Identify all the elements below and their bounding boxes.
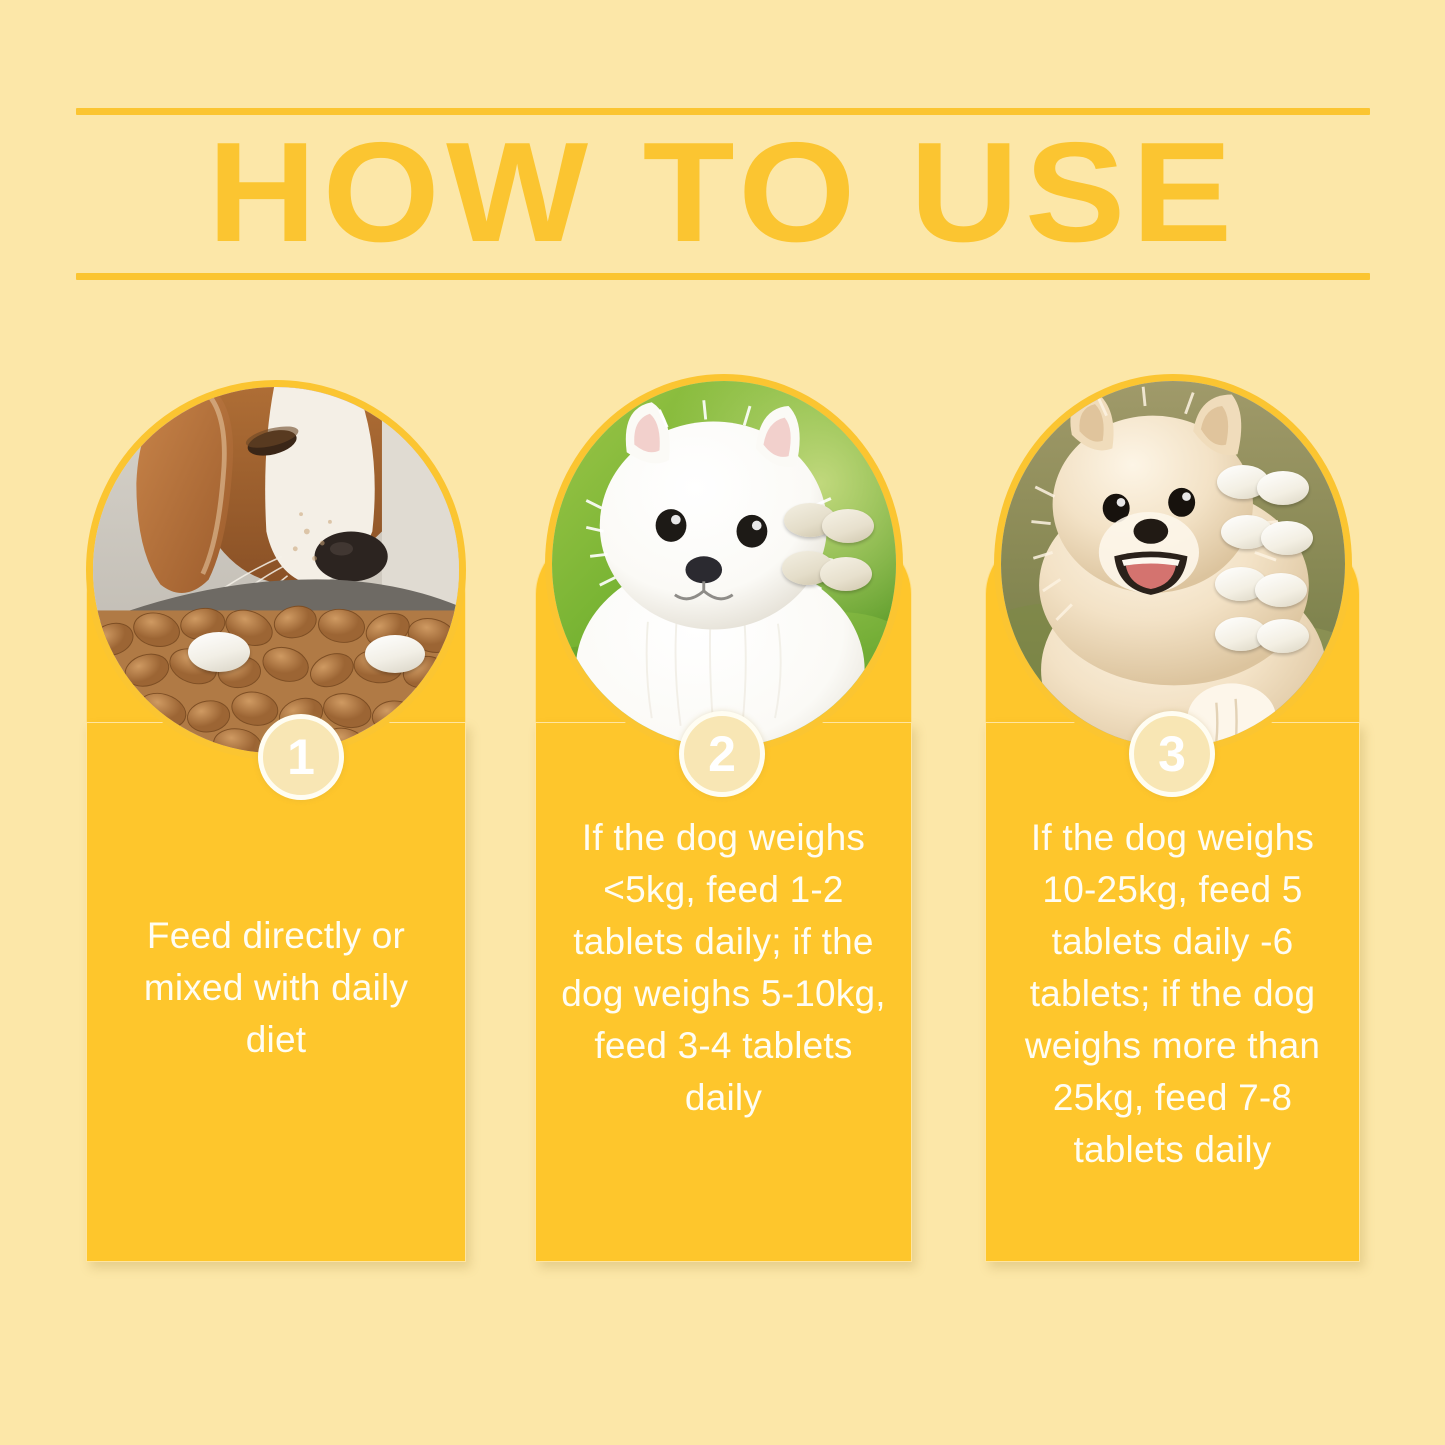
step-card-2[interactable]: 2 If the dog weighs <5kg, feed 1-2 table… (535, 492, 912, 1262)
tablet-4 (820, 557, 872, 591)
tablet-1 (188, 632, 250, 672)
step-text-2: If the dog weighs <5kg, feed 1-2 tablets… (558, 812, 890, 1124)
tablet-2 (822, 509, 874, 543)
step-text-1: Feed directly or mixed with daily diet (109, 910, 443, 1066)
step-photo-1 (86, 380, 466, 760)
tablet-4 (1261, 521, 1313, 555)
tablet-2 (1257, 471, 1309, 505)
tablet-6 (1255, 573, 1307, 607)
step-photo-2 (545, 374, 903, 754)
step-photo-3 (994, 374, 1352, 754)
cream-pomeranian-illustration (1001, 381, 1345, 747)
step-badge-1: 1 (258, 714, 344, 800)
tablet-8 (1257, 619, 1309, 653)
step-number-2: 2 (708, 729, 736, 779)
step-number-1: 1 (287, 732, 315, 782)
step-badge-3: 3 (1129, 711, 1215, 797)
step-badge-2: 2 (679, 711, 765, 797)
beagle-eating-kibble-illustration (93, 387, 459, 753)
step-card-1[interactable]: 1 Feed directly or mixed with daily diet (86, 492, 466, 1262)
steps-container: 1 Feed directly or mixed with daily diet (0, 0, 1445, 1445)
step-text-3: If the dog weighs 10-25kg, feed 5 tablet… (1008, 812, 1338, 1176)
step-number-3: 3 (1158, 729, 1186, 779)
step-card-3[interactable]: 3 If the dog weighs 10-25kg, feed 5 tabl… (985, 492, 1360, 1262)
tablet-2 (365, 635, 425, 673)
